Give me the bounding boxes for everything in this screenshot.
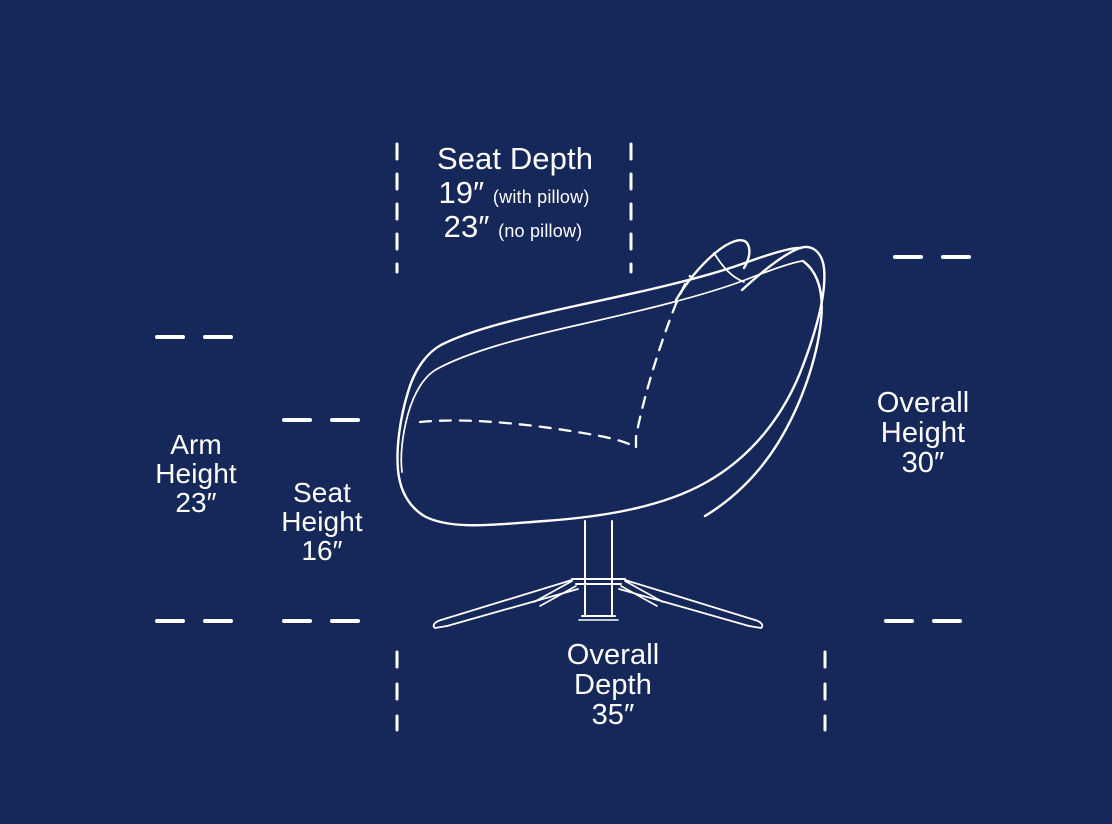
label-overall-depth: Overall Depth 35″ (528, 640, 698, 730)
chair-dimensions-diagram: Seat Depth 19″ (with pillow) 23″ (no pil… (0, 0, 1112, 824)
seat-depth-value-no-pillow: 23″ (444, 209, 490, 244)
label-arm-height: Arm Height 23″ (133, 430, 259, 517)
overall-depth-value: 35″ (528, 700, 698, 730)
chair-back-right-shell (705, 261, 822, 516)
seat-depth-with-pillow-row: 19″ (with pillow) (404, 177, 624, 209)
chair-outer-silhouette (397, 247, 824, 525)
overall-depth-title-line2: Depth (528, 670, 698, 700)
chair-back-inner-rim (437, 261, 803, 369)
overall-height-title-line1: Overall (843, 388, 1003, 418)
arm-height-title-line2: Height (133, 459, 259, 488)
seat-depth-value-with-pillow: 19″ (438, 175, 484, 210)
label-seat-depth: Seat Depth 19″ (with pillow) 23″ (no pil… (406, 143, 624, 244)
seat-height-title-line2: Height (258, 507, 386, 536)
overall-depth-title-line1: Overall (528, 640, 698, 670)
overall-height-value: 30″ (843, 448, 1003, 478)
backrest-front-hidden-line (636, 276, 690, 447)
base-leg-front-left-tip (434, 620, 447, 628)
overall-height-title-line2: Height (843, 418, 1003, 448)
seat-height-title-line1: Seat (258, 478, 386, 507)
seat-depth-note-no-pillow: (no pillow) (498, 221, 582, 241)
seat-depth-title: Seat Depth (406, 143, 624, 175)
seat-depth-no-pillow-row: 23″ (no pillow) (402, 211, 624, 243)
seat-surface-hidden-line (420, 420, 636, 447)
seat-depth-note-with-pillow: (with pillow) (493, 187, 590, 207)
arm-height-title-line1: Arm (133, 430, 259, 459)
label-overall-height: Overall Height 30″ (843, 388, 1003, 478)
base-leg-front-left-lower (447, 589, 578, 626)
base-leg-front-right-lower (619, 589, 749, 626)
seat-height-value: 16″ (258, 536, 386, 565)
base-leg-front-right (625, 580, 755, 620)
label-seat-height: Seat Height 16″ (258, 478, 386, 565)
base-leg-front-right-tip (749, 620, 762, 628)
arm-height-value: 23″ (133, 488, 259, 517)
